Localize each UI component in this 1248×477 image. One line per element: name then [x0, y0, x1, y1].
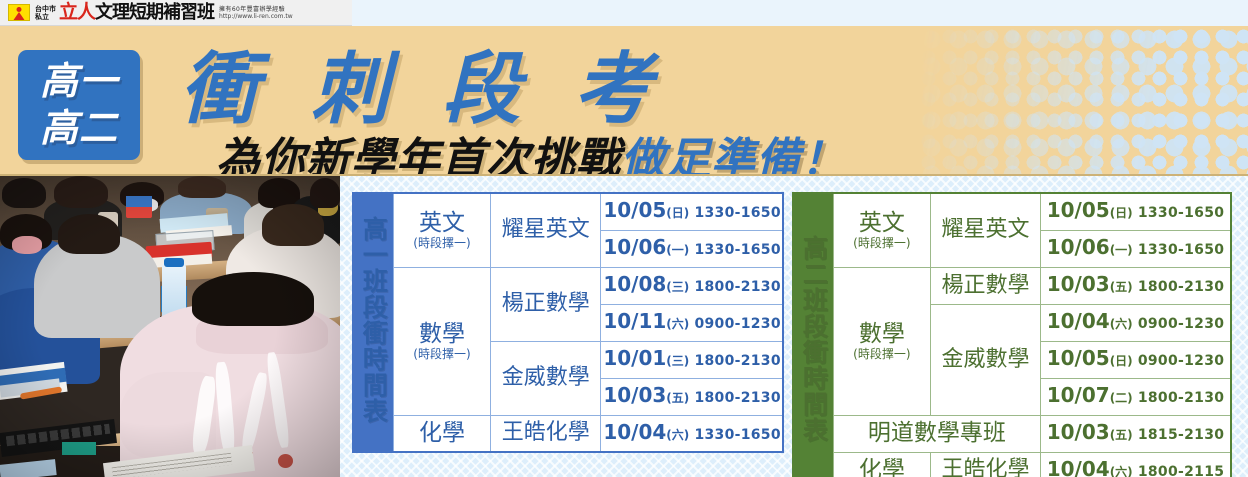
session-slot-cell: 10/03(五) 1800-2130	[1041, 267, 1231, 304]
session-date: 10/08	[603, 272, 666, 296]
teacher-cell: 金威數學	[491, 341, 601, 415]
subject-cell: 數學(時段擇一)	[833, 267, 930, 415]
session-slot-cell: 10/04(六) 1330-1650	[601, 415, 783, 452]
classroom-photo	[0, 176, 340, 477]
session-slot-cell: 10/01(三) 1800-2130	[601, 341, 783, 378]
school-url: http://www.li-ren.com.tw	[219, 13, 293, 20]
session-time-range: 0900-1230	[689, 316, 781, 332]
teacher-cell: 楊正數學	[931, 267, 1041, 304]
session-date: 10/04	[603, 420, 666, 444]
session-day-of-week: (三)	[666, 280, 689, 294]
table-row: 化學王皓化學10/04(六) 1800-2115	[793, 452, 1231, 477]
session-date: 10/06	[1047, 235, 1110, 259]
session-day-of-week: (一)	[1110, 243, 1133, 257]
li-ren-logo-icon	[8, 4, 30, 21]
course-wide-cell: 明道數學專班	[833, 415, 1040, 452]
session-time-range: 1330-1650	[689, 242, 781, 258]
subject-note: (時段擇一)	[396, 347, 488, 361]
session-date: 10/04	[1047, 457, 1110, 477]
session-slot-cell: 10/04(六) 1800-2115	[1041, 452, 1231, 477]
subject-cell: 英文(時段擇一)	[393, 193, 490, 267]
session-date: 10/07	[1047, 383, 1110, 407]
table-row: 數學(時段擇一)楊正數學10/08(三) 1800-2130	[353, 267, 783, 304]
session-time-range: 0900-1230	[1133, 353, 1225, 369]
table-row: 高二班段衝時間表英文(時段擇一)耀星英文10/05(日) 1330-1650	[793, 193, 1231, 230]
table-row: 明道數學專班10/03(五) 1815-2130	[793, 415, 1231, 452]
session-slot-cell: 10/06(一) 1330-1650	[601, 230, 783, 267]
teacher-cell: 王皓化學	[491, 415, 601, 452]
session-slot-cell: 10/07(二) 1800-2130	[1041, 378, 1231, 415]
subject-note: (時段擇一)	[836, 347, 928, 361]
table-row: 化學王皓化學10/04(六) 1330-1650	[353, 415, 783, 452]
promo-banner: 高一 高二 衝 刺 段 考 為你新學年首次挑戰做足準備！	[0, 26, 1248, 176]
session-time-range: 1800-2130	[689, 390, 781, 406]
school-city-label: 台中市 私立	[35, 5, 56, 21]
session-day-of-week: (六)	[1110, 317, 1133, 331]
session-date: 10/04	[1047, 309, 1110, 333]
session-slot-cell: 10/04(六) 0900-1230	[1041, 304, 1231, 341]
session-time-range: 1815-2130	[1133, 427, 1225, 443]
session-date: 10/11	[603, 309, 666, 333]
session-date: 10/06	[603, 235, 666, 259]
session-date: 10/01	[603, 346, 666, 370]
subject-note: (時段擇一)	[396, 236, 488, 250]
teacher-cell: 楊正數學	[491, 267, 601, 341]
session-day-of-week: (日)	[666, 206, 689, 220]
grade-badge-line-1: 高一	[40, 58, 118, 105]
session-date: 10/03	[603, 383, 666, 407]
subject-cell: 數學(時段擇一)	[393, 267, 490, 415]
schedule-table-grade1: 高一班段衝時間表英文(時段擇一)耀星英文10/05(日) 1330-165010…	[352, 192, 784, 453]
session-time-range: 1330-1650	[1133, 205, 1225, 221]
teacher-cell: 王皓化學	[931, 452, 1041, 477]
subject-cell: 英文(時段擇一)	[833, 193, 930, 267]
session-day-of-week: (五)	[666, 391, 689, 405]
session-time-range: 1800-2130	[1133, 390, 1225, 406]
session-slot-cell: 10/03(五) 1815-2130	[1041, 415, 1231, 452]
session-slot-cell: 10/05(日) 1330-1650	[601, 193, 783, 230]
session-slot-cell: 10/05(日) 1330-1650	[1041, 193, 1231, 230]
session-time-range: 1330-1650	[689, 427, 781, 443]
session-time-range: 1800-2130	[1133, 279, 1225, 295]
session-slot-cell: 10/08(三) 1800-2130	[601, 267, 783, 304]
session-day-of-week: (六)	[1110, 465, 1133, 477]
school-name-black: 文理短期補習班	[95, 3, 214, 22]
banner-subtitle-black: 為你新學年首次挑戰	[216, 134, 621, 176]
session-day-of-week: (日)	[1110, 206, 1133, 220]
session-date: 10/05	[1047, 198, 1110, 222]
session-slot-cell: 10/03(五) 1800-2130	[601, 378, 783, 415]
session-slot-cell: 10/05(日) 0900-1230	[1041, 341, 1231, 378]
schedule-side-header-text: 高一班段衝時間表	[360, 216, 386, 424]
session-day-of-week: (一)	[666, 243, 689, 257]
banner-subtitle-blue: 做足準備！	[621, 134, 846, 176]
session-day-of-week: (六)	[666, 317, 689, 331]
session-day-of-week: (三)	[666, 354, 689, 368]
session-date: 10/05	[603, 198, 666, 222]
session-date: 10/03	[1047, 420, 1110, 444]
school-tagline-block: 擁有60年豐富辦學經驗 http://www.li-ren.com.tw	[219, 6, 293, 20]
session-time-range: 1330-1650	[1133, 242, 1225, 258]
schedule-side-header: 高一班段衝時間表	[353, 193, 393, 452]
school-name-red: 立人	[59, 3, 95, 22]
session-time-range: 1800-2115	[1133, 464, 1225, 477]
session-day-of-week: (二)	[1110, 391, 1133, 405]
site-logo-bar: 台中市 私立 立人 文理短期補習班 擁有60年豐富辦學經驗 http://www…	[0, 0, 352, 26]
teacher-cell: 耀星英文	[491, 193, 601, 267]
session-time-range: 1800-2130	[689, 353, 781, 369]
school-tagline: 擁有60年豐富辦學經驗	[219, 6, 293, 13]
table-row: 數學(時段擇一)楊正數學10/03(五) 1800-2130	[793, 267, 1231, 304]
grade-badge: 高一 高二	[18, 50, 140, 160]
session-day-of-week: (五)	[1110, 428, 1133, 442]
schedule-body-grade2: 高二班段衝時間表英文(時段擇一)耀星英文10/05(日) 1330-165010…	[793, 193, 1231, 477]
session-day-of-week: (五)	[1110, 280, 1133, 294]
session-slot-cell: 10/06(一) 1330-1650	[1041, 230, 1231, 267]
schedule-grid-grade1: 高一班段衝時間表英文(時段擇一)耀星英文10/05(日) 1330-165010…	[352, 192, 784, 453]
table-row: 高一班段衝時間表英文(時段擇一)耀星英文10/05(日) 1330-1650	[353, 193, 783, 230]
banner-title: 衝 刺 段 考	[180, 48, 664, 132]
city-line-1: 台中市	[35, 5, 56, 13]
teacher-cell: 金威數學	[931, 304, 1041, 415]
session-date: 10/03	[1047, 272, 1110, 296]
teacher-cell: 耀星英文	[931, 193, 1041, 267]
subject-cell: 化學	[393, 415, 490, 452]
session-day-of-week: (六)	[666, 428, 689, 442]
halftone-dot-pattern-secondary	[918, 26, 1248, 176]
banner-subtitle: 為你新學年首次挑戰做足準備！	[216, 134, 846, 176]
photo-vignette	[0, 176, 340, 477]
session-time-range: 1330-1650	[689, 205, 781, 221]
schedule-grid-grade2: 高二班段衝時間表英文(時段擇一)耀星英文10/05(日) 1330-165010…	[792, 192, 1232, 477]
subject-cell: 化學	[833, 452, 930, 477]
schedule-table-grade2: 高二班段衝時間表英文(時段擇一)耀星英文10/05(日) 1330-165010…	[792, 192, 1232, 477]
schedule-body-grade1: 高一班段衝時間表英文(時段擇一)耀星英文10/05(日) 1330-165010…	[353, 193, 783, 452]
session-time-range: 0900-1230	[1133, 316, 1225, 332]
schedule-side-header: 高二班段衝時間表	[793, 193, 833, 477]
schedule-side-header-text: 高二班段衝時間表	[800, 235, 826, 443]
grade-badge-line-2: 高二	[40, 105, 118, 152]
session-slot-cell: 10/11(六) 0900-1230	[601, 304, 783, 341]
session-day-of-week: (日)	[1110, 354, 1133, 368]
city-line-2: 私立	[35, 13, 56, 21]
session-time-range: 1800-2130	[689, 279, 781, 295]
subject-note: (時段擇一)	[836, 236, 928, 250]
session-date: 10/05	[1047, 346, 1110, 370]
